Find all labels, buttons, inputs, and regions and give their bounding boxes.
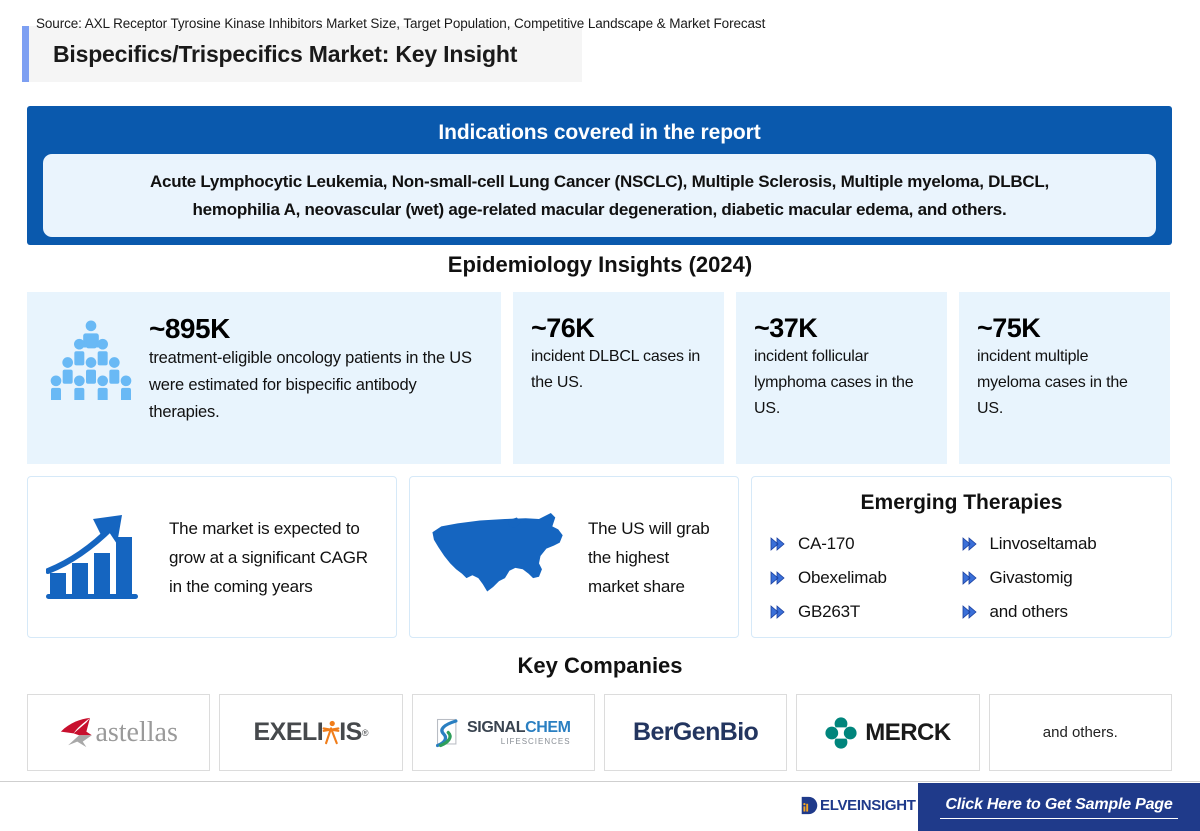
therapy-name: and others (990, 595, 1068, 629)
epi-value: ~76K (531, 314, 710, 342)
list-item: Givastomig (962, 561, 1154, 595)
epi-card-follicular-lymphoma: ~37K incident follicular lymphoma cases … (736, 292, 947, 464)
signalchem-sub: LIFESCIENCES (467, 738, 571, 746)
list-item: CA-170 (770, 527, 962, 561)
source-text: Source: AXL Receptor Tyrosine Kinase Inh… (36, 16, 765, 31)
logo-merck: MERCK (796, 694, 979, 771)
delveinsight-logo: ELVEINSIGHT (800, 796, 916, 815)
bergenbio-wordmark: BerGenBio (633, 718, 758, 747)
list-item: Linvoseltamab (962, 527, 1154, 561)
epidemiology-row: ~895K treatment-eligible oncology patien… (27, 292, 1172, 464)
therapy-name: GB263T (798, 595, 860, 629)
emerging-therapies-title: Emerging Therapies (770, 491, 1153, 515)
us-market-share-card: The US will grab the highest market shar… (409, 476, 739, 638)
chevron-bullet-icon (770, 570, 790, 586)
epi-description: incident follicular lymphoma cases in th… (754, 344, 933, 422)
cta-underline (940, 818, 1178, 819)
insights-row: The market is expected to grow at a sign… (27, 476, 1172, 638)
logo-astellas: astellas (27, 694, 210, 771)
page-title: Bispecifics/Trispecifics Market: Key Ins… (22, 26, 582, 82)
epi-value: ~75K (977, 314, 1156, 342)
list-item: Obexelimab (770, 561, 962, 595)
logo-signalchem: SIGNALCHEM LIFESCIENCES (412, 694, 595, 771)
us-market-share-text: The US will grab the highest market shar… (588, 514, 724, 601)
epidemiology-heading: Epidemiology Insights (2024) (0, 252, 1200, 278)
indications-content: Acute Lymphocytic Leukemia, Non-small-ce… (43, 154, 1156, 237)
market-growth-text: The market is expected to grow at a sign… (169, 514, 382, 601)
title-accent-bar (22, 26, 29, 82)
therapy-name: Givastomig (990, 561, 1073, 595)
epi-description: treatment-eligible oncology patients in … (149, 345, 487, 426)
epi-card-dlbcl: ~76K incident DLBCL cases in the US. (513, 292, 724, 464)
registered-mark-icon: ® (362, 728, 369, 738)
epi-card-multiple-myeloma: ~75K incident multiple myeloma cases in … (959, 292, 1170, 464)
therapies-column-right: Linvoseltamab Givastomig and others (962, 527, 1154, 629)
signalchem-primary: SIGNAL (467, 719, 525, 736)
epi-value: ~895K (149, 314, 487, 343)
exelixis-wordmark-suffix: IS (339, 718, 362, 747)
chevron-bullet-icon (962, 604, 982, 620)
indications-heading: Indications covered in the report (43, 116, 1156, 154)
indications-line-1: Acute Lymphocytic Leukemia, Non-small-ce… (65, 168, 1134, 196)
delveinsight-wordmark: ELVEINSIGHT (820, 797, 916, 814)
cta-label: Click Here to Get Sample Page (945, 796, 1172, 814)
signalchem-accent: CHEM (525, 719, 571, 736)
company-logos-row: astellas EXELI IS® SIGNALCHEM (27, 694, 1172, 771)
epi-card-body: ~75K incident multiple myeloma cases in … (977, 314, 1156, 422)
chevron-bullet-icon (770, 604, 790, 620)
therapies-column-left: CA-170 Obexelimab GB263T (770, 527, 962, 629)
list-item: GB263T (770, 595, 962, 629)
growth-bar-chart-icon (46, 511, 161, 604)
market-growth-card: The market is expected to grow at a sign… (27, 476, 397, 638)
chevron-bullet-icon (770, 536, 790, 552)
epi-card-body: ~76K incident DLBCL cases in the US. (531, 314, 710, 396)
emerging-therapies-list: CA-170 Obexelimab GB263T (770, 527, 1153, 629)
epi-card-oncology: ~895K treatment-eligible oncology patien… (27, 292, 501, 464)
epi-card-body: ~37K incident follicular lymphoma cases … (754, 314, 933, 422)
emerging-therapies-card: Emerging Therapies CA-170 Obexelimab (751, 476, 1172, 638)
logo-and-others: and others. (989, 694, 1172, 771)
logo-exelixis: EXELI IS® (219, 694, 402, 771)
people-group-icon (49, 320, 133, 405)
therapy-name: Linvoseltamab (990, 527, 1097, 561)
astellas-wordmark: astellas (95, 717, 177, 749)
exelixis-wordmark: EXELI (253, 718, 323, 747)
list-item: and others (962, 595, 1154, 629)
infographic-page: Bispecifics/Trispecifics Market: Key Ins… (0, 0, 1200, 831)
epi-description: incident DLBCL cases in the US. (531, 344, 710, 396)
key-companies-heading: Key Companies (0, 653, 1200, 679)
chevron-bullet-icon (962, 536, 982, 552)
epi-card-body: ~895K treatment-eligible oncology patien… (149, 314, 487, 426)
get-sample-page-button[interactable]: Click Here to Get Sample Page (918, 783, 1200, 831)
signalchem-wordmark: SIGNALCHEM LIFESCIENCES (467, 720, 571, 746)
and-others-label: and others. (1043, 724, 1118, 741)
logo-bergenbio: BerGenBio (604, 694, 787, 771)
title-box: Bispecifics/Trispecifics Market: Key Ins… (29, 26, 582, 82)
indications-banner: Indications covered in the report Acute … (27, 106, 1172, 245)
merck-wordmark: MERCK (865, 719, 951, 747)
epi-value: ~37K (754, 314, 933, 342)
therapy-name: Obexelimab (798, 561, 887, 595)
chevron-bullet-icon (962, 570, 982, 586)
epi-description: incident multiple myeloma cases in the U… (977, 344, 1156, 422)
page-title-text: Bispecifics/Trispecifics Market: Key Ins… (53, 41, 517, 68)
us-map-icon (428, 510, 576, 604)
indications-line-2: hemophilia A, neovascular (wet) age-rela… (65, 196, 1134, 224)
therapy-name: CA-170 (798, 527, 854, 561)
